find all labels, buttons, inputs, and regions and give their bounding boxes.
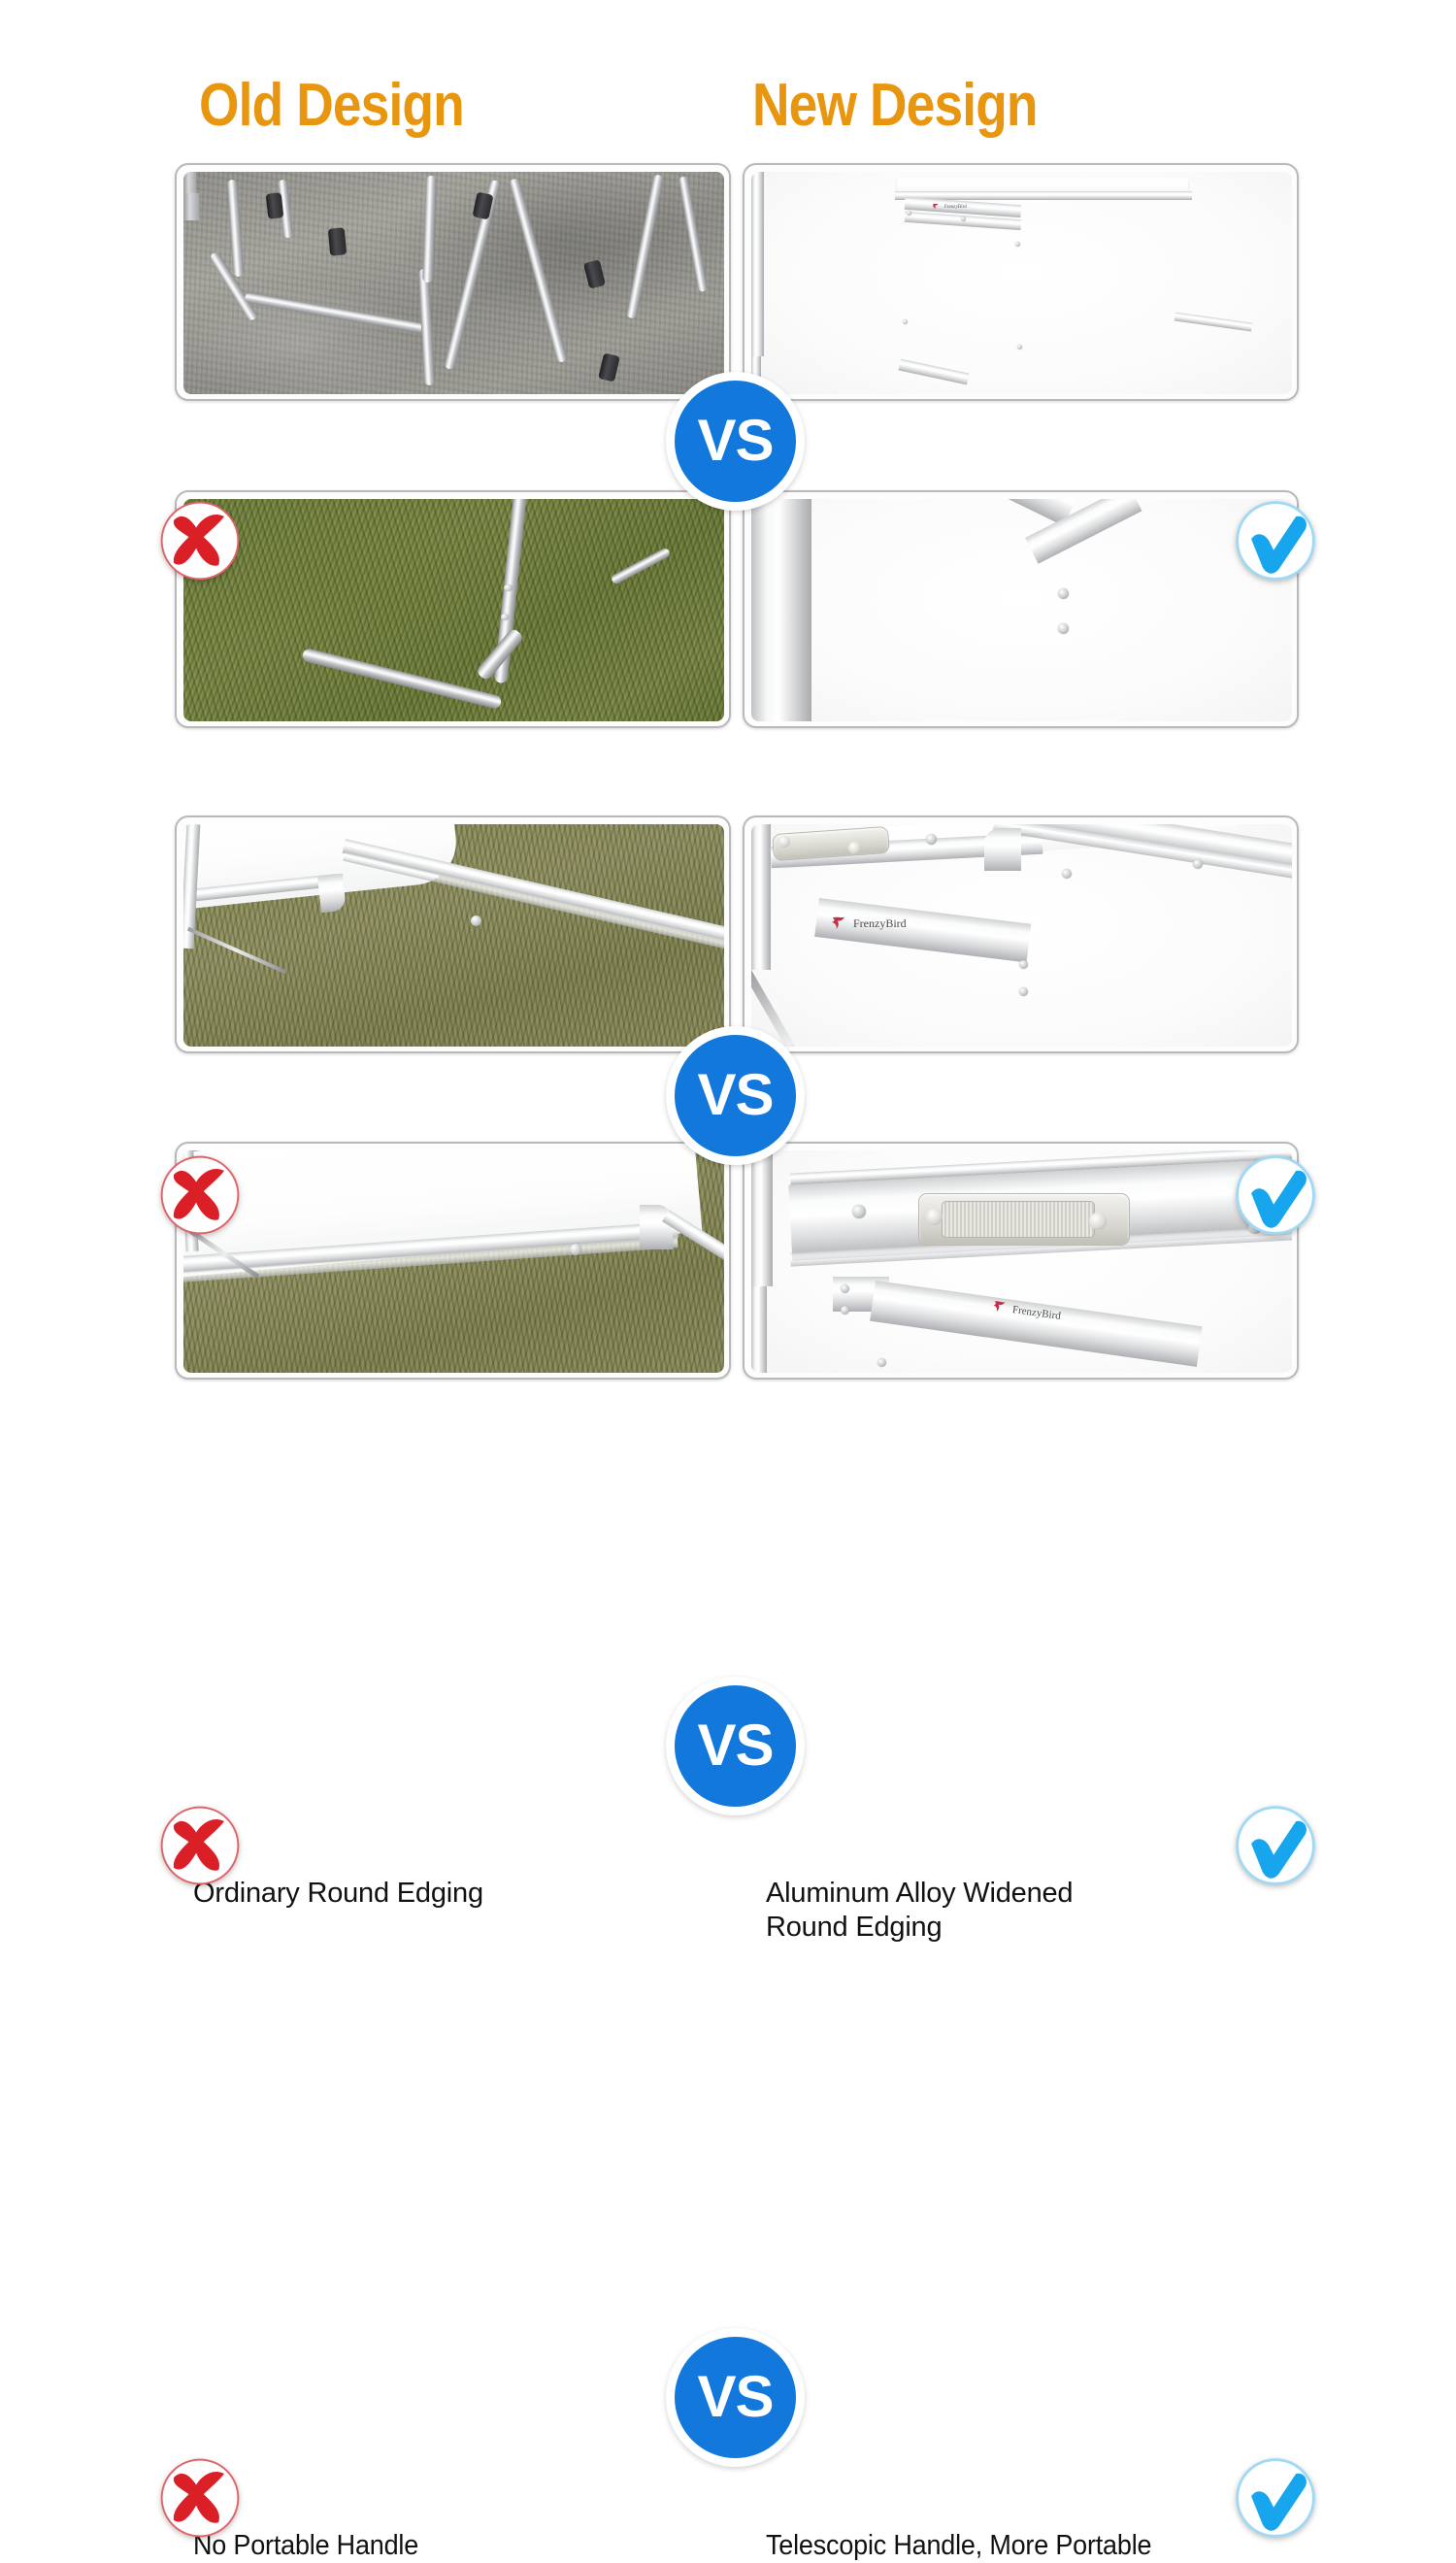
cross-icon	[153, 1148, 247, 1242]
vs-badge: VS	[666, 1677, 805, 1815]
check-icon	[1229, 494, 1322, 587]
photo-new-square-aluminum-leg-closeup	[751, 499, 1292, 721]
brand-bird-icon	[991, 1299, 1009, 1315]
old-photo-panel-3	[175, 815, 731, 1053]
vs-label: VS	[697, 1716, 773, 1775]
caption-new-4: Telescopic Handle, More Portable	[766, 2529, 1151, 2563]
vs-label: VS	[697, 1066, 773, 1124]
check-icon	[1229, 1799, 1322, 1892]
header-row: Old Design New Design	[0, 70, 1456, 142]
photo-old-table-side-no-handle	[183, 1150, 724, 1373]
brand-bird-icon	[831, 915, 849, 932]
photo-old-table-corner-ordinary-edging	[183, 824, 724, 1047]
comparison-infographic: Old Design New Design	[0, 0, 1456, 1456]
photo-old-table-round-legs-on-concrete	[183, 172, 724, 394]
brand-bird-icon	[932, 203, 941, 211]
brand-name: FrenzyBird	[853, 916, 907, 931]
vs-badge: VS	[666, 1026, 805, 1165]
page-title-old-design: Old Design	[199, 70, 464, 142]
cross-icon	[153, 1799, 247, 1892]
vs-label: VS	[697, 2368, 773, 2426]
check-icon	[1229, 1148, 1322, 1242]
caption-new-3: Aluminum Alloy Widened Round Edging	[766, 1877, 1073, 1946]
photo-new-table-frame-two-square-transverse-pipes: FrenzyBird	[751, 172, 1292, 394]
vs-badge: VS	[666, 372, 805, 511]
new-photo-panel-3: FrenzyBird	[743, 815, 1299, 1053]
cross-icon	[153, 494, 247, 587]
new-photo-panel-4: FrenzyBird	[743, 1142, 1299, 1380]
vs-badge: VS	[666, 2328, 805, 2467]
photo-new-table-side-telescopic-handle: FrenzyBird	[751, 1150, 1292, 1373]
old-photo-panel-4	[175, 1142, 731, 1380]
photo-old-round-leg-joint-on-grass	[183, 499, 724, 721]
new-photo-panel-2	[743, 490, 1299, 728]
cross-icon	[153, 2451, 247, 2545]
vs-label: VS	[697, 412, 773, 470]
check-icon	[1229, 2451, 1322, 2545]
brand-name: FrenzyBird	[944, 205, 967, 210]
old-photo-panel-2	[175, 490, 731, 728]
photo-new-table-corner-widened-edging: FrenzyBird	[751, 824, 1292, 1047]
new-photo-panel-1: FrenzyBird	[743, 163, 1299, 401]
old-photo-panel-1	[175, 163, 731, 401]
page-title-new-design: New Design	[752, 70, 1038, 142]
